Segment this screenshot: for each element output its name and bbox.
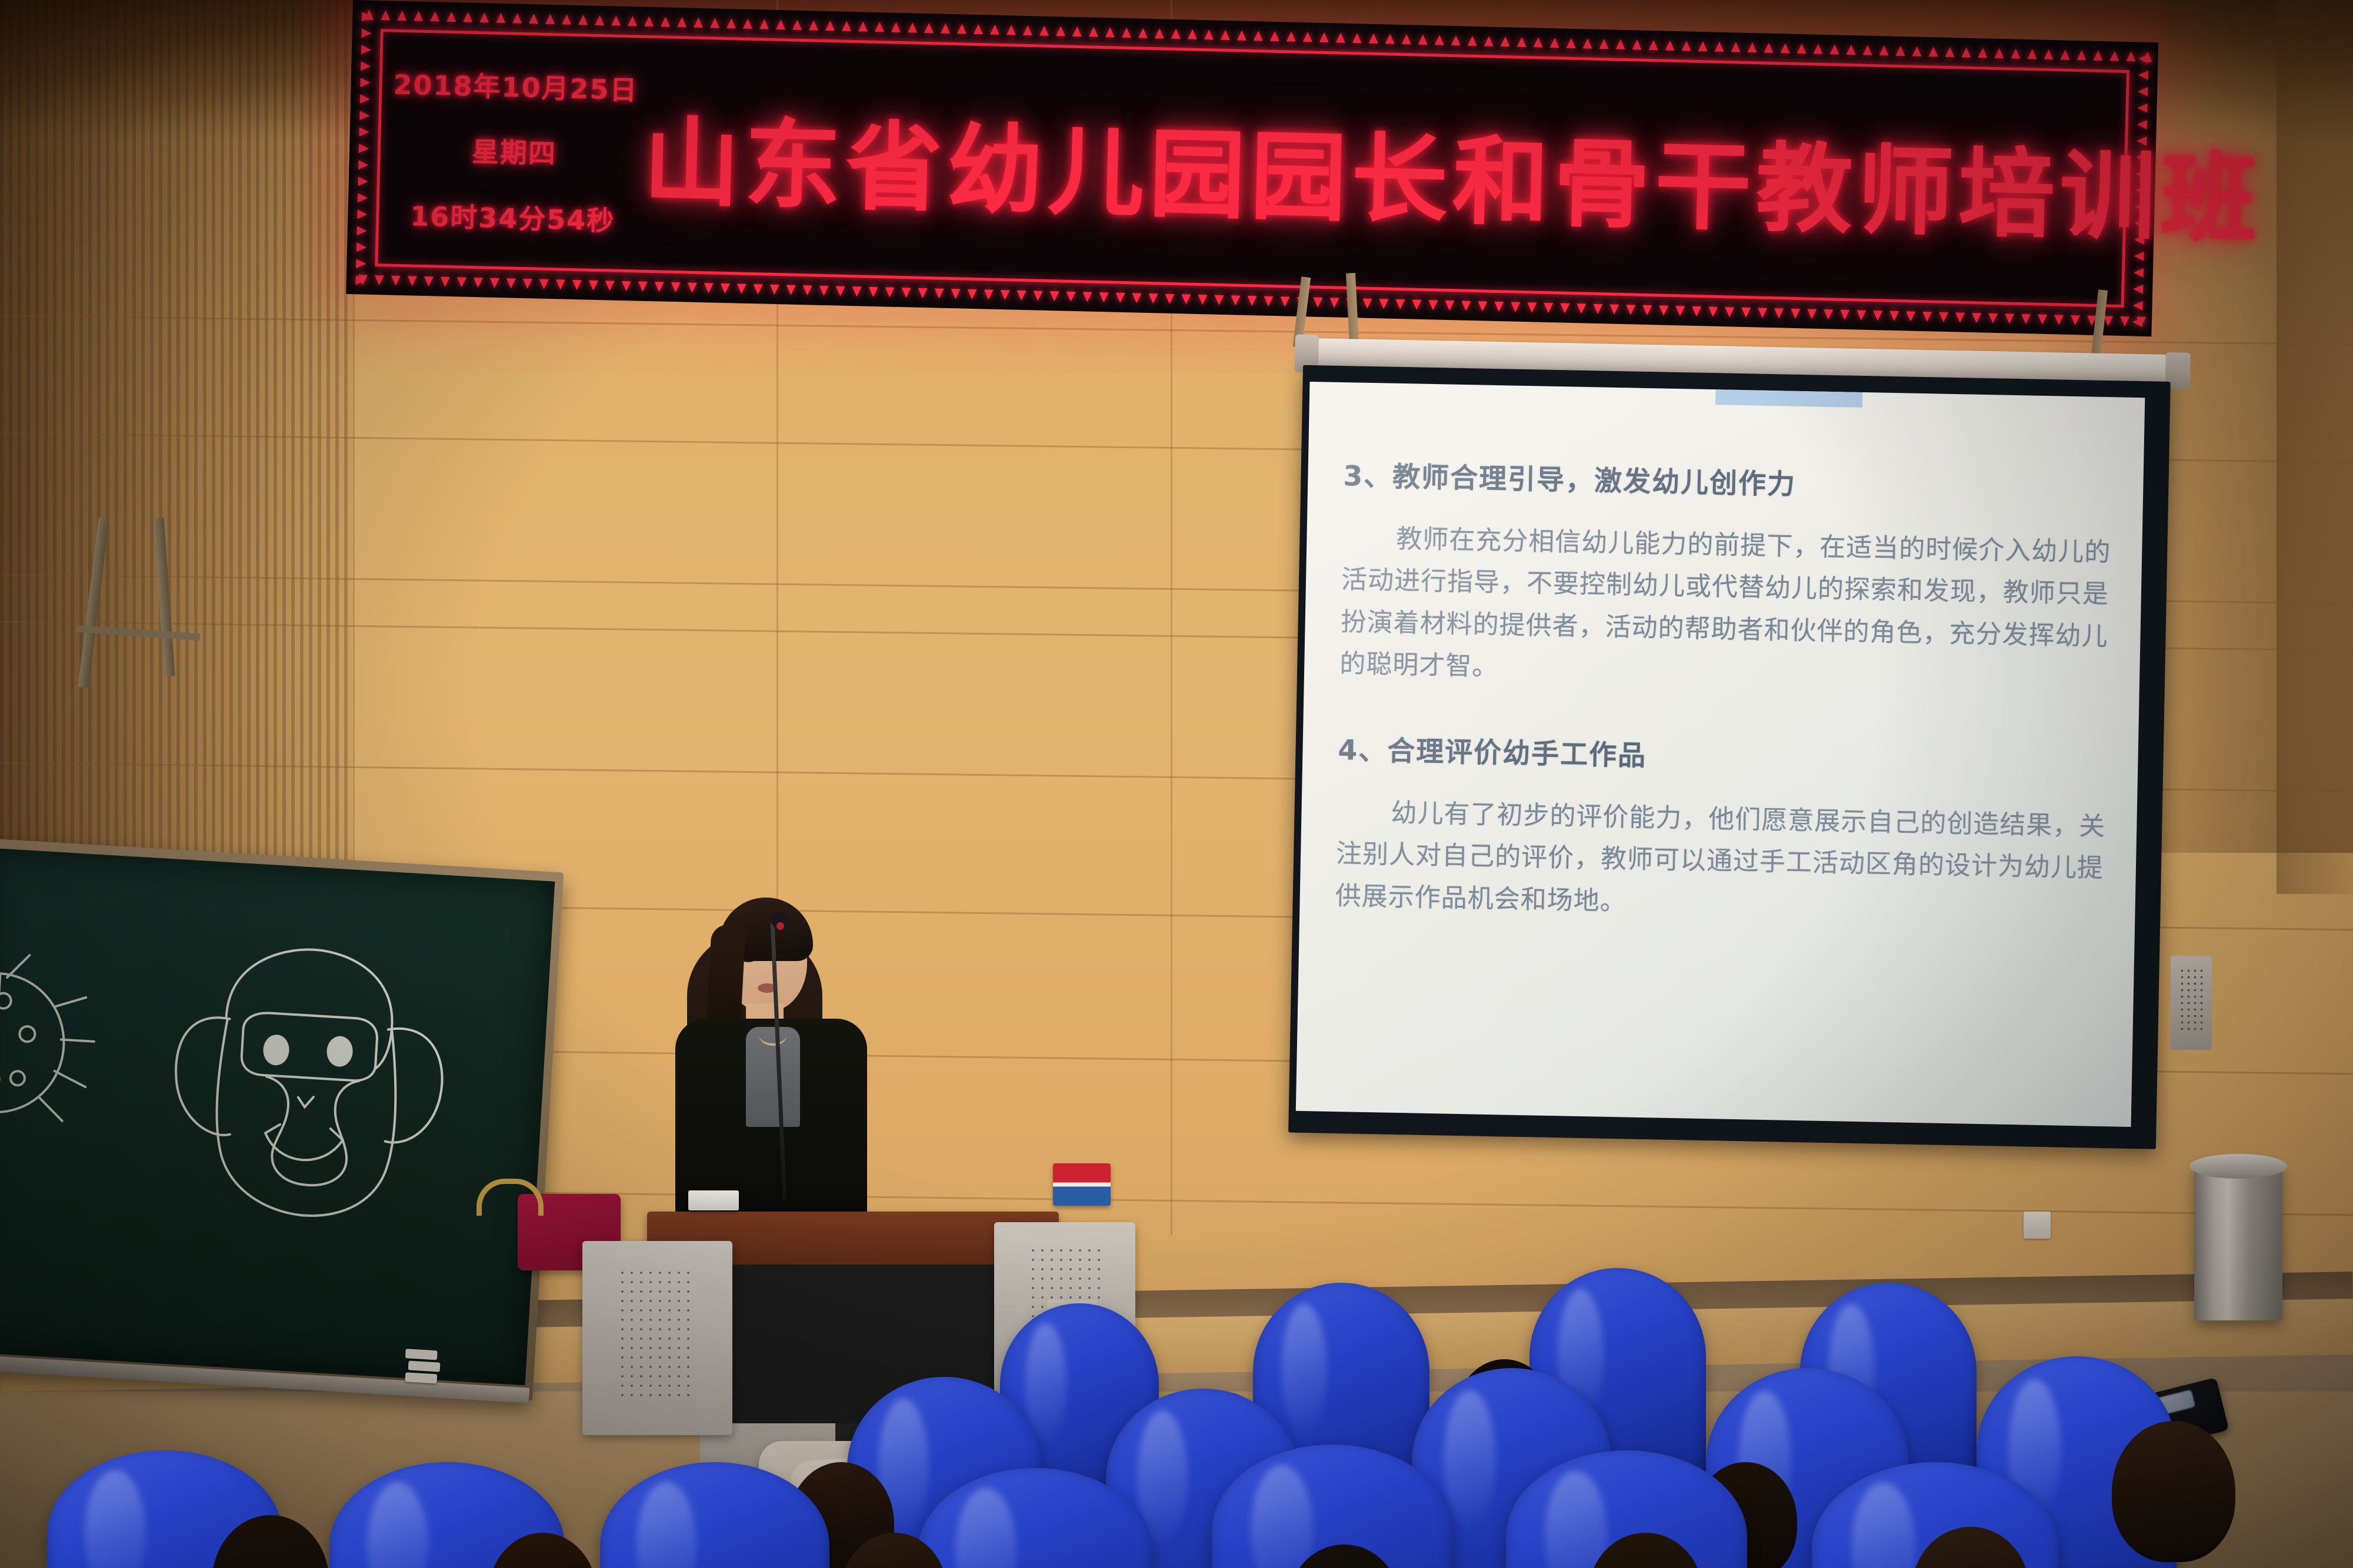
blackboard-crossbar bbox=[76, 625, 200, 641]
led-triangle bbox=[2138, 87, 2148, 96]
audience-chair bbox=[600, 1462, 829, 1568]
led-datetime-block: 2018年10月25日 星期四 16时34分54秒 bbox=[388, 36, 641, 266]
led-triangle bbox=[2134, 268, 2144, 277]
led-date: 2018年10月25日 bbox=[393, 63, 639, 108]
speaker-grill bbox=[2179, 968, 2204, 1032]
led-triangle bbox=[2138, 71, 2148, 80]
led-banner: 2018年10月25日 星期四 16时34分54秒 山东省幼儿园园长和骨干教师培… bbox=[346, 0, 2158, 336]
projection-screen: 3、教师合理引导，激发幼儿创作力 教师在充分相信幼儿能力的前提下，在适当的时候介… bbox=[1297, 338, 2162, 1151]
microphone-indicator-light bbox=[776, 922, 784, 930]
led-weekday: 星期四 bbox=[471, 131, 557, 171]
lecture-hall-photo: 2018年10月25日 星期四 16时34分54秒 山东省幼儿园园长和骨干教师培… bbox=[0, 0, 2353, 1568]
led-time: 16时34分54秒 bbox=[410, 195, 616, 238]
led-triangle bbox=[2137, 104, 2147, 113]
presenter-necklace bbox=[759, 1023, 787, 1046]
blackboard-stand bbox=[88, 518, 241, 712]
audience-seating bbox=[0, 1156, 2353, 1568]
led-triangle bbox=[2132, 317, 2142, 326]
audience-member-head bbox=[2112, 1421, 2235, 1562]
screen-glare bbox=[1296, 382, 2145, 1127]
led-triangle bbox=[2138, 54, 2148, 64]
screen-surface: 3、教师合理引导，激发幼儿创作力 教师在充分相信幼儿能力的前提下，在适当的时候介… bbox=[1296, 382, 2145, 1127]
led-triangle bbox=[2133, 284, 2143, 293]
wall-pillar-right bbox=[2277, 0, 2353, 894]
ladybug-drawing bbox=[0, 948, 99, 1122]
blackboard-leg bbox=[154, 518, 175, 677]
wall-speaker bbox=[2171, 956, 2212, 1050]
led-triangle bbox=[2132, 301, 2142, 310]
screen-border: 3、教师合理引导，激发幼儿创作力 教师在充分相信幼儿能力的前提下，在适当的时候介… bbox=[1288, 365, 2171, 1149]
